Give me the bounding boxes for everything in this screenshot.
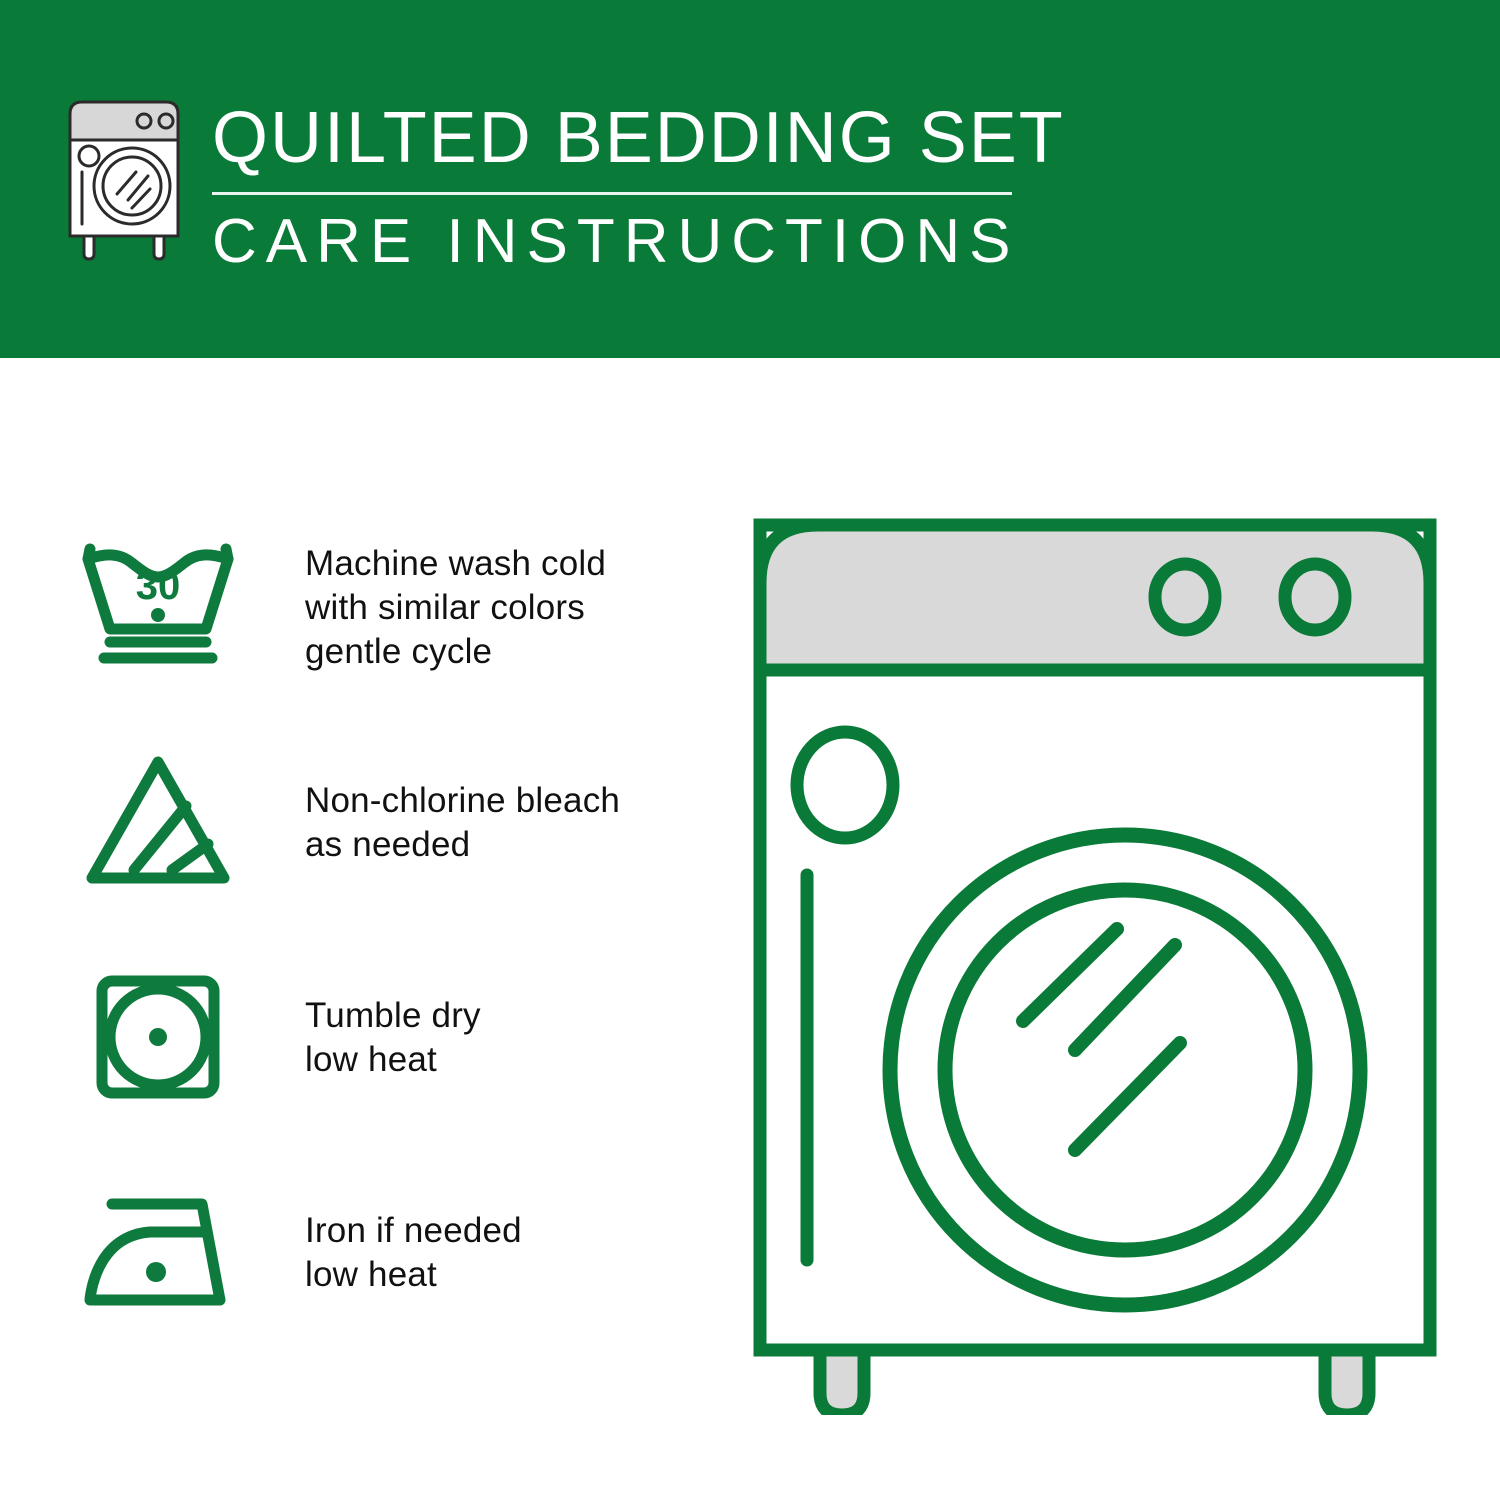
care-label-iron-line-2: low heat <box>305 1253 522 1297</box>
wash-temperature-label: 30 <box>135 564 180 608</box>
title-divider <box>212 192 1012 195</box>
care-row-iron: Iron if needed low heat <box>70 1145 730 1360</box>
care-label-wash-line-3: gentle cycle <box>305 630 606 674</box>
page-subtitle: CARE INSTRUCTIONS <box>212 209 1065 275</box>
care-label-bleach-line-2: as needed <box>305 823 620 867</box>
care-row-tumble-dry: Tumble dry low heat <box>70 930 730 1145</box>
care-label-iron: Iron if needed low heat <box>305 1209 522 1297</box>
care-label-bleach: Non-chlorine bleach as needed <box>305 779 620 867</box>
washer-leg-right <box>1325 1350 1369 1415</box>
page-title: QUILTED BEDDING SET <box>212 100 1065 176</box>
tumble-dry-icon <box>70 963 245 1113</box>
iron-icon <box>70 1178 245 1328</box>
care-label-wash: Machine wash cold with similar colors ge… <box>305 542 606 674</box>
care-label-iron-line-1: Iron if needed <box>305 1209 522 1253</box>
control-knob-2[interactable] <box>1285 564 1345 630</box>
care-label-tumble-dry: Tumble dry low heat <box>305 994 481 1082</box>
care-label-wash-line-1: Machine wash cold <box>305 542 606 586</box>
care-row-wash: 30 Machine wash cold with similar colors… <box>70 500 730 715</box>
care-row-bleach: Non-chlorine bleach as needed <box>70 715 730 930</box>
washer-door-inner <box>945 890 1305 1250</box>
care-instructions-page: QUILTED BEDDING SET CARE INSTRUCTIONS 30 <box>0 0 1500 1500</box>
washer-leg-left <box>820 1350 864 1415</box>
washing-machine-icon <box>62 96 194 264</box>
bleach-triangle-icon <box>70 748 245 898</box>
care-label-tumble-dry-line-2: low heat <box>305 1038 481 1082</box>
front-load-washing-machine-illustration <box>745 505 1445 1415</box>
wash-tub-30-icon: 30 <box>70 533 245 683</box>
detergent-dispenser <box>797 732 893 838</box>
header-content: QUILTED BEDDING SET CARE INSTRUCTIONS <box>62 96 1065 275</box>
control-knob-1[interactable] <box>1155 564 1215 630</box>
care-label-tumble-dry-line-1: Tumble dry <box>305 994 481 1038</box>
care-instruction-list: 30 Machine wash cold with similar colors… <box>70 500 730 1360</box>
care-label-wash-line-2: with similar colors <box>305 586 606 630</box>
care-label-bleach-line-1: Non-chlorine bleach <box>305 779 620 823</box>
header-titles: QUILTED BEDDING SET CARE INSTRUCTIONS <box>212 96 1065 275</box>
header-banner: QUILTED BEDDING SET CARE INSTRUCTIONS <box>0 0 1500 358</box>
